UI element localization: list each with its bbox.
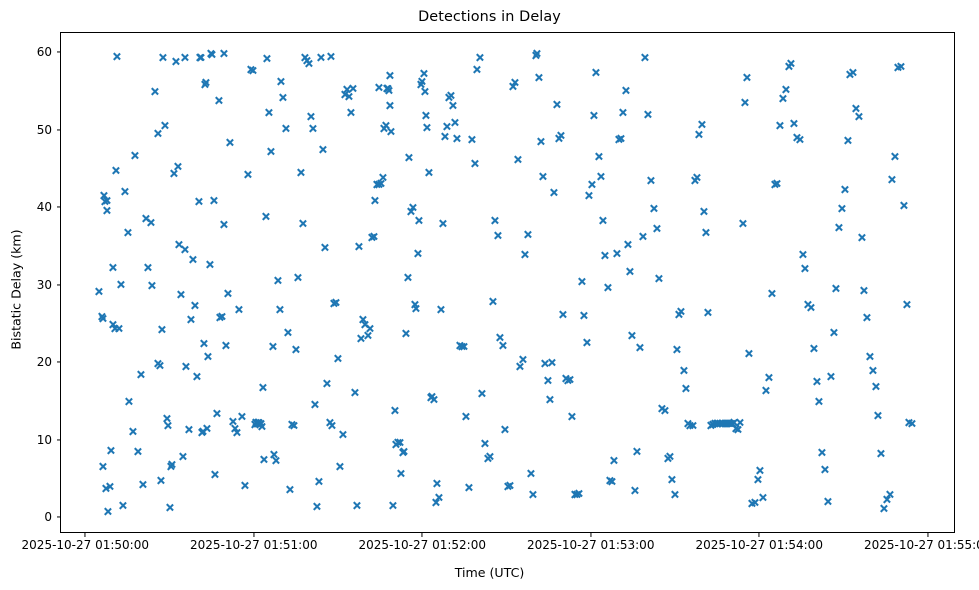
- scatter-point: [261, 212, 270, 221]
- y-tick-label: 0: [0, 510, 52, 524]
- y-tick-mark: [57, 284, 61, 285]
- scatter-point: [532, 49, 541, 58]
- scatter-point: [423, 123, 432, 132]
- scatter-point: [905, 418, 914, 427]
- scatter-point: [266, 147, 275, 156]
- scatter-point: [128, 427, 137, 436]
- scatter-point: [429, 395, 438, 404]
- scatter-point: [641, 53, 650, 62]
- scatter-point: [212, 409, 221, 418]
- scatter-point: [103, 206, 112, 215]
- scatter-point: [363, 331, 372, 340]
- scatter-point: [379, 124, 388, 133]
- x-tick-mark: [85, 533, 86, 537]
- scatter-point: [136, 370, 145, 379]
- scatter-point: [660, 406, 669, 415]
- scatter-point: [834, 223, 843, 232]
- scatter-point: [681, 384, 690, 393]
- scatter-point: [846, 70, 855, 79]
- scatter-point: [876, 449, 885, 458]
- scatter-point: [369, 232, 378, 241]
- scatter-point: [679, 366, 688, 375]
- scatter-point: [614, 135, 623, 144]
- scatter-point: [219, 49, 228, 58]
- scatter-point: [704, 308, 713, 317]
- scatter-point: [397, 469, 406, 478]
- scatter-point: [688, 421, 697, 430]
- matplotlib-figure: Detections in Delay 0102030405060 2025-1…: [0, 0, 979, 590]
- scatter-point: [182, 362, 191, 371]
- x-tick-mark: [590, 533, 591, 537]
- scatter-point: [147, 281, 156, 290]
- scatter-point: [547, 358, 556, 367]
- scatter-point: [610, 456, 619, 465]
- scatter-point: [329, 299, 338, 308]
- scatter-point: [260, 455, 269, 464]
- scatter-point: [727, 419, 736, 428]
- scatter-point: [240, 481, 249, 490]
- scatter-point: [607, 477, 616, 486]
- scatter-point: [426, 393, 435, 402]
- scatter-point: [747, 499, 756, 508]
- scatter-point: [99, 191, 108, 200]
- scatter-point: [692, 173, 701, 182]
- x-tick-label: 2025-10-27 01:52:00: [359, 538, 486, 552]
- scatter-point: [773, 179, 782, 188]
- scatter-point: [133, 447, 142, 456]
- scatter-point: [490, 216, 499, 225]
- scatter-point: [254, 419, 263, 428]
- scatter-point: [891, 152, 900, 161]
- scatter-point: [646, 176, 655, 185]
- scatter-point: [699, 207, 708, 216]
- scatter-point: [331, 298, 340, 307]
- scatter-point: [156, 476, 165, 485]
- scatter-point: [385, 71, 394, 80]
- scatter-point: [237, 412, 246, 421]
- scatter-point: [674, 310, 683, 319]
- scatter-point: [837, 204, 846, 213]
- scatter-point: [907, 419, 916, 428]
- scatter-point: [592, 68, 601, 77]
- scatter-point: [386, 101, 395, 110]
- scatter-point: [635, 343, 644, 352]
- scatter-point: [118, 501, 127, 510]
- scatter-point: [756, 466, 765, 475]
- scatter-point: [874, 411, 883, 420]
- scatter-point: [638, 232, 647, 241]
- scatter-point: [440, 132, 449, 141]
- scatter-point: [223, 289, 232, 298]
- scatter-point: [803, 300, 812, 309]
- scatter-point: [448, 101, 457, 110]
- scatter-point: [601, 251, 610, 260]
- scatter-point: [314, 477, 323, 486]
- scatter-point: [302, 56, 311, 65]
- scatter-point: [377, 179, 386, 188]
- scatter-point: [792, 133, 801, 142]
- scatter-point: [750, 498, 759, 507]
- scatter-point: [371, 196, 380, 205]
- scatter-point: [446, 91, 455, 100]
- scatter-point: [605, 476, 614, 485]
- scatter-point: [108, 263, 117, 272]
- scatter-point: [577, 277, 586, 286]
- scatter-point: [823, 497, 832, 506]
- scatter-point: [871, 382, 880, 391]
- x-tick-mark: [759, 533, 760, 537]
- scatter-point: [536, 137, 545, 146]
- scatter-point: [753, 475, 762, 484]
- scatter-point: [277, 77, 286, 86]
- scatter-point: [258, 383, 267, 392]
- scatter-point: [186, 315, 195, 324]
- scatter-point: [442, 122, 451, 131]
- scatter-point: [503, 482, 512, 491]
- scatter-point: [459, 342, 468, 351]
- scatter-point: [116, 280, 125, 289]
- scatter-point: [102, 196, 111, 205]
- scatter-point: [556, 131, 565, 140]
- scatter-point: [279, 93, 288, 102]
- scatter-point: [818, 448, 827, 457]
- x-tick-mark: [253, 533, 254, 537]
- x-tick-label: 2025-10-27 01:51:00: [190, 538, 317, 552]
- scatter-point: [271, 456, 280, 465]
- scatter-point: [809, 344, 818, 353]
- scatter-point: [205, 260, 214, 269]
- scatter-point: [138, 480, 147, 489]
- scatter-point: [589, 111, 598, 120]
- scatter-point: [720, 419, 729, 428]
- scatter-point: [408, 203, 417, 212]
- scatter-point: [621, 86, 630, 95]
- scatter-point: [565, 375, 574, 384]
- scatter-point: [160, 121, 169, 130]
- scatter-point: [365, 324, 374, 333]
- scatter-point: [420, 87, 429, 96]
- scatter-point: [323, 379, 332, 388]
- scatter-point: [176, 290, 185, 299]
- scatter-point: [196, 53, 205, 62]
- scatter-point: [521, 250, 530, 259]
- scatter-point: [545, 395, 554, 404]
- scatter-point: [383, 84, 392, 93]
- scatter-point: [806, 303, 815, 312]
- scatter-point: [114, 324, 123, 333]
- x-tick-mark: [422, 533, 423, 537]
- scatter-point: [155, 361, 164, 370]
- scatter-point: [826, 372, 835, 381]
- scatter-point: [199, 427, 208, 436]
- scatter-point: [902, 300, 911, 309]
- scatter-point: [336, 462, 345, 471]
- scatter-point: [888, 175, 897, 184]
- scatter-point: [718, 419, 727, 428]
- scatter-point: [596, 172, 605, 181]
- scatter-point: [378, 173, 387, 182]
- scatter-point: [677, 307, 686, 316]
- scatter-point: [159, 53, 168, 62]
- scatter-point: [857, 233, 866, 242]
- scatter-point: [99, 462, 108, 471]
- scatter-point: [506, 481, 515, 490]
- y-tick-mark: [57, 517, 61, 518]
- scatter-point: [731, 424, 740, 433]
- scatter-point: [105, 482, 114, 491]
- scatter-point: [344, 92, 353, 101]
- scatter-point: [568, 412, 577, 421]
- scatter-point: [123, 228, 132, 237]
- scatter-point: [253, 418, 262, 427]
- scatter-point: [697, 120, 706, 129]
- scatter-series: [61, 33, 954, 532]
- scatter-point: [401, 329, 410, 338]
- scatter-point: [561, 374, 570, 383]
- scatter-point: [740, 98, 749, 107]
- scatter-point: [848, 68, 857, 77]
- scatter-point: [169, 169, 178, 178]
- x-tick-label: 2025-10-27 01:50:00: [22, 538, 149, 552]
- scatter-point: [723, 419, 732, 428]
- scatter-point: [652, 224, 661, 233]
- scatter-point: [862, 313, 871, 322]
- scatter-point: [204, 352, 213, 361]
- scatter-point: [885, 490, 894, 499]
- scatter-point: [214, 96, 223, 105]
- scatter-point: [473, 65, 482, 74]
- scatter-point: [112, 52, 121, 61]
- scatter-point: [584, 191, 593, 200]
- scatter-point: [192, 372, 201, 381]
- scatter-point: [623, 240, 632, 249]
- scatter-point: [257, 422, 266, 431]
- scatter-point: [417, 77, 426, 86]
- scatter-point: [244, 170, 253, 179]
- scatter-point: [495, 333, 504, 342]
- scatter-point: [194, 197, 203, 206]
- scatter-point: [180, 53, 189, 62]
- scatter-point: [663, 454, 672, 463]
- scatter-point: [587, 180, 596, 189]
- scatter-point: [729, 418, 738, 427]
- scatter-point: [228, 417, 237, 426]
- scatter-point: [550, 188, 559, 197]
- scatter-point: [403, 273, 412, 282]
- scatter-point: [411, 304, 420, 313]
- scatter-point: [361, 320, 370, 329]
- x-axis-label: Time (UTC): [0, 565, 979, 580]
- scatter-point: [690, 176, 699, 185]
- scatter-point: [511, 78, 520, 87]
- scatter-point: [195, 53, 204, 62]
- scatter-point: [110, 324, 119, 333]
- scatter-point: [413, 249, 422, 258]
- scatter-point: [382, 84, 391, 93]
- scatter-point: [367, 233, 376, 242]
- scatter-point: [327, 421, 336, 430]
- scatter-point: [415, 216, 424, 225]
- scatter-point: [340, 90, 349, 99]
- scatter-point: [254, 418, 263, 427]
- scatter-point: [475, 53, 484, 62]
- scatter-point: [326, 52, 335, 61]
- scatter-point: [738, 219, 747, 228]
- scatter-point: [598, 216, 607, 225]
- scatter-point: [210, 470, 219, 479]
- scatter-point: [294, 273, 303, 282]
- scatter-point: [251, 418, 260, 427]
- scatter-point: [419, 69, 428, 78]
- scatter-point: [493, 231, 502, 240]
- chart-title: Detections in Delay: [0, 9, 979, 25]
- scatter-point: [722, 419, 731, 428]
- scatter-point: [683, 419, 692, 428]
- scatter-point: [263, 54, 272, 63]
- x-tick-label: 2025-10-27 01:55:00: [864, 538, 979, 552]
- scatter-point: [421, 111, 430, 120]
- scatter-point: [235, 305, 244, 314]
- scatter-point: [255, 420, 264, 429]
- scatter-point: [265, 108, 274, 117]
- scatter-point: [761, 386, 770, 395]
- scatter-point: [899, 201, 908, 210]
- scatter-point: [142, 214, 151, 223]
- scatter-point: [103, 507, 112, 516]
- scatter-point: [252, 419, 261, 428]
- scatter-point: [721, 419, 730, 428]
- scatter-point: [268, 342, 277, 351]
- scatter-point: [436, 305, 445, 314]
- scatter-point: [373, 180, 382, 189]
- scatter-point: [478, 389, 487, 398]
- scatter-point: [165, 503, 174, 512]
- scatter-point: [563, 376, 572, 385]
- scatter-point: [868, 366, 877, 375]
- scatter-point: [398, 448, 407, 457]
- scatter-point: [528, 490, 537, 499]
- scatter-point: [829, 328, 838, 337]
- y-tick-mark: [57, 129, 61, 130]
- scatter-point: [767, 289, 776, 298]
- scatter-point: [357, 334, 366, 343]
- scatter-point: [350, 388, 359, 397]
- scatter-point: [795, 135, 804, 144]
- scatter-point: [256, 419, 265, 428]
- scatter-point: [815, 397, 824, 406]
- scatter-point: [594, 152, 603, 161]
- scatter-point: [733, 425, 742, 434]
- scatter-point: [190, 301, 199, 310]
- scatter-point: [724, 419, 733, 428]
- scatter-point: [304, 59, 313, 68]
- scatter-point: [387, 127, 396, 136]
- scatter-point: [541, 359, 550, 368]
- scatter-point: [167, 462, 176, 471]
- y-tick-label: 50: [0, 123, 52, 137]
- scatter-point: [619, 108, 628, 117]
- scatter-point: [784, 62, 793, 71]
- scatter-point: [625, 267, 634, 276]
- scatter-point: [206, 49, 215, 58]
- scatter-point: [789, 119, 798, 128]
- scatter-point: [480, 439, 489, 448]
- scatter-point: [462, 412, 471, 421]
- scatter-point: [144, 263, 153, 272]
- scatter-point: [444, 93, 453, 102]
- scatter-point: [203, 424, 212, 433]
- scatter-point: [393, 438, 402, 447]
- scatter-point: [764, 373, 773, 382]
- scatter-point: [395, 438, 404, 447]
- scatter-point: [801, 264, 810, 273]
- scatter-point: [281, 124, 290, 133]
- scatter-point: [879, 504, 888, 513]
- scatter-point: [632, 447, 641, 456]
- scatter-point: [643, 110, 652, 119]
- scatter-point: [406, 207, 415, 216]
- scatter-point: [882, 495, 891, 504]
- scatter-point: [759, 493, 768, 502]
- scatter-point: [865, 352, 874, 361]
- scatter-point: [296, 168, 305, 177]
- scatter-point: [572, 490, 581, 499]
- scatter-point: [180, 245, 189, 254]
- scatter-point: [453, 134, 462, 143]
- scatter-point: [523, 230, 532, 239]
- scatter-point: [552, 100, 561, 109]
- scatter-point: [616, 134, 625, 143]
- scatter-point: [498, 341, 507, 350]
- scatter-point: [325, 418, 334, 427]
- scatter-point: [318, 145, 327, 154]
- scatter-point: [250, 420, 259, 429]
- scatter-point: [171, 57, 180, 66]
- scatter-point: [215, 313, 224, 322]
- scatter-point: [316, 53, 325, 62]
- scatter-point: [374, 83, 383, 92]
- scatter-point: [570, 490, 579, 499]
- scatter-point: [342, 85, 351, 94]
- scatter-point: [106, 446, 115, 455]
- scatter-point: [100, 197, 109, 206]
- scatter-point: [745, 349, 754, 358]
- scatter-point: [120, 187, 129, 196]
- scatter-point: [431, 498, 440, 507]
- scatter-point: [781, 85, 790, 94]
- scatter-point: [668, 475, 677, 484]
- scatter-point: [200, 339, 209, 348]
- scatter-point: [273, 276, 282, 285]
- scatter-point: [346, 108, 355, 117]
- scatter-point: [248, 66, 257, 75]
- scatter-point: [455, 341, 464, 350]
- scatter-point: [95, 287, 104, 296]
- scatter-point: [246, 65, 255, 74]
- scatter-point: [719, 419, 728, 428]
- scatter-point: [672, 345, 681, 354]
- scatter-point: [728, 419, 737, 428]
- scatter-point: [543, 376, 552, 385]
- scatter-point: [109, 320, 118, 329]
- scatter-point: [603, 283, 612, 292]
- scatter-point: [131, 151, 140, 160]
- scatter-point: [390, 406, 399, 415]
- scatter-point: [154, 359, 163, 368]
- scatter-point: [221, 341, 230, 350]
- scatter-point: [125, 397, 134, 406]
- scatter-point: [896, 62, 905, 71]
